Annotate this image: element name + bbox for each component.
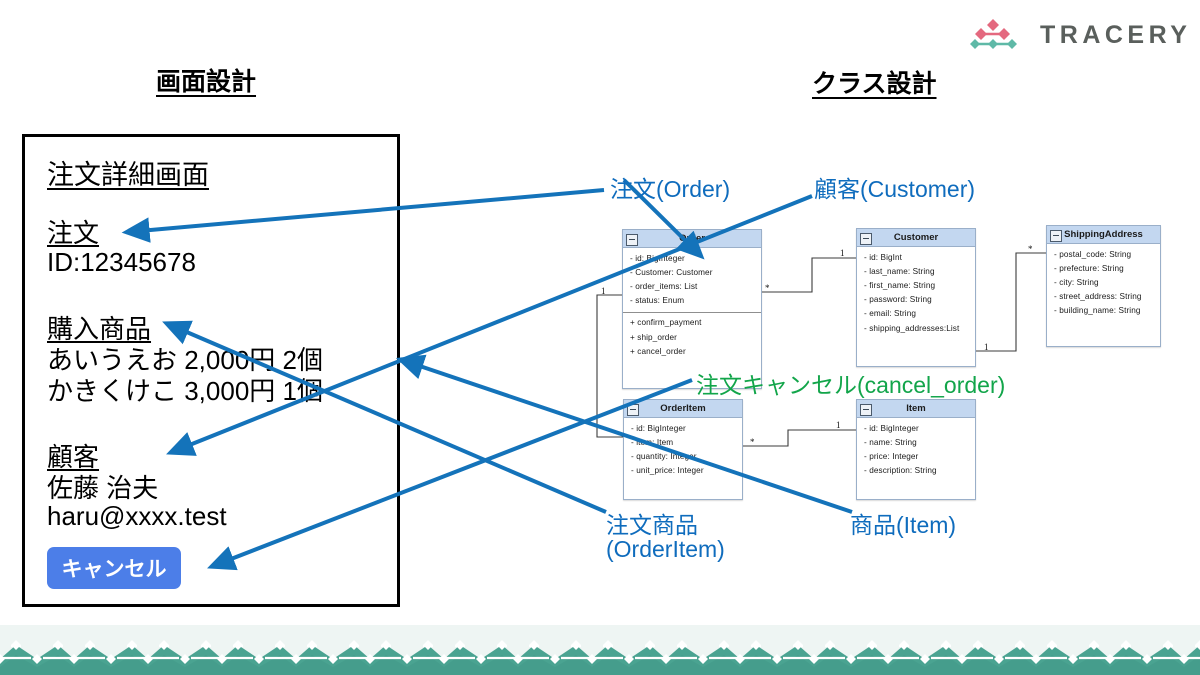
multiplicity-item-left: 1 xyxy=(836,420,841,430)
uml-class-name: Order xyxy=(679,233,705,244)
uml-attribute-row: - last_name: String xyxy=(857,264,975,278)
uml-operation-row: + confirm_payment xyxy=(623,316,761,330)
uml-attribute-row: - quantity: Integer xyxy=(624,449,742,463)
uml-attributes: - id: BigInteger - item: Item - quantity… xyxy=(624,418,742,482)
multiplicity-customer-bottom: 1 xyxy=(984,342,989,352)
multiplicity-orderitem-left: * xyxy=(610,428,615,438)
uml-attribute-row: - id: BigInteger xyxy=(857,421,975,435)
multiplicity-order-right: * xyxy=(765,283,770,293)
class-collapse-icon[interactable] xyxy=(626,234,638,246)
uml-class-orderitem[interactable]: OrderItem - id: BigInteger - item: Item … xyxy=(623,399,743,500)
uml-operations: + confirm_payment + ship_order + cancel_… xyxy=(623,312,761,363)
mockup-customer-name: 佐藤 治夫 xyxy=(47,468,158,505)
class-collapse-icon[interactable] xyxy=(860,233,872,245)
multiplicity-shipaddr-left: * xyxy=(1028,244,1033,254)
brand-name: TRACERY xyxy=(1040,21,1191,50)
uml-attribute-row: - prefecture: String xyxy=(1047,261,1160,275)
uml-class-header: Item xyxy=(857,400,975,418)
mockup-page-title: 注文詳細画面 xyxy=(47,153,209,192)
heading-class-design: クラス設計 xyxy=(812,64,937,100)
uml-attribute-row: - password: String xyxy=(857,293,975,307)
footer-decoration-band xyxy=(0,625,1200,675)
annotation-item: 商品(Item) xyxy=(850,506,956,540)
uml-attribute-row: - shipping_addresses:List xyxy=(857,321,975,335)
uml-attribute-row: - unit_price: Integer xyxy=(624,464,742,478)
uml-class-name: Customer xyxy=(894,232,938,243)
annotation-cancel-order: 注文キャンセル(cancel_order) xyxy=(696,366,1005,400)
uml-attribute-row: - id: BigInteger xyxy=(624,421,742,435)
uml-attribute-row: - postal_code: String xyxy=(1047,247,1160,261)
uml-attribute-row: - building_name: String xyxy=(1047,304,1160,318)
class-collapse-icon[interactable] xyxy=(1050,230,1062,242)
uml-attributes: - postal_code: String - prefecture: Stri… xyxy=(1047,244,1160,322)
uml-attribute-row: - id: BigInt xyxy=(857,250,975,264)
annotation-orderitem-line2: (OrderItem) xyxy=(606,536,725,563)
uml-class-header: Order xyxy=(623,230,761,248)
uml-class-name: OrderItem xyxy=(660,403,705,414)
uml-attribute-row: - name: String xyxy=(857,435,975,449)
uml-attribute-row: - Customer: Customer xyxy=(623,265,761,279)
uml-class-header: ShippingAddress xyxy=(1047,226,1160,244)
uml-attributes: - id: BigInteger - name: String - price:… xyxy=(857,418,975,482)
multiplicity-customer-left: 1 xyxy=(840,248,845,258)
diamond-network-pattern-icon xyxy=(0,625,1200,675)
uml-attribute-row: - description: String xyxy=(857,464,975,478)
uml-class-order[interactable]: Order - id: BigInteger - Customer: Custo… xyxy=(622,229,762,389)
annotation-customer: 顧客(Customer) xyxy=(814,170,975,204)
cancel-button[interactable]: キャンセル xyxy=(47,547,181,589)
mockup-customer-email: haru@xxxx.test xyxy=(47,501,227,532)
uml-operation-row: + ship_order xyxy=(623,330,761,344)
mockup-item-row: かきくけこ 3,000円 1個 xyxy=(47,371,323,408)
uml-attribute-row: - email: String xyxy=(857,307,975,321)
tracery-diamond-network-logo-icon xyxy=(968,18,1030,52)
uml-attribute-row: - price: Integer xyxy=(857,449,975,463)
uml-class-item[interactable]: Item - id: BigInteger - name: String - p… xyxy=(856,399,976,500)
uml-attribute-row: - city: String xyxy=(1047,275,1160,289)
uml-attribute-row: - id: BigInteger xyxy=(623,251,761,265)
annotation-order: 注文(Order) xyxy=(610,170,730,204)
slide-canvas: TRACERY 画面設計 クラス設計 注文詳細画面 注文 ID:12345678… xyxy=(0,0,1200,675)
multiplicity-order-left: 1 xyxy=(601,286,606,296)
uml-attribute-row: - first_name: String xyxy=(857,278,975,292)
uml-class-name: Item xyxy=(906,403,926,414)
multiplicity-orderitem-right: * xyxy=(750,437,755,447)
uml-attributes: - id: BigInteger - Customer: Customer - … xyxy=(623,248,761,312)
uml-class-shippingaddress[interactable]: ShippingAddress - postal_code: String - … xyxy=(1046,225,1161,347)
uml-class-header: OrderItem xyxy=(624,400,742,418)
uml-class-customer[interactable]: Customer - id: BigInt - last_name: Strin… xyxy=(856,228,976,367)
heading-screen-design: 画面設計 xyxy=(156,62,256,98)
mockup-order-section-label: 注文 xyxy=(47,213,99,250)
annotation-orderitem-line1: 注文商品 xyxy=(606,506,698,540)
uml-attribute-row: - street_address: String xyxy=(1047,290,1160,304)
uml-attribute-row: - status: Enum xyxy=(623,294,761,308)
class-collapse-icon[interactable] xyxy=(627,404,639,416)
brand-logo: TRACERY xyxy=(968,14,1178,56)
mockup-order-id: ID:12345678 xyxy=(47,247,196,278)
uml-class-name: ShippingAddress xyxy=(1064,229,1143,240)
screen-mockup-frame: 注文詳細画面 注文 ID:12345678 購入商品 あいうえお 2,000円 … xyxy=(22,134,400,607)
uml-class-header: Customer xyxy=(857,229,975,247)
uml-attribute-row: - order_items: List xyxy=(623,279,761,293)
uml-operation-row: + cancel_order xyxy=(623,344,761,358)
class-collapse-icon[interactable] xyxy=(860,404,872,416)
uml-attribute-row: - item: Item xyxy=(624,435,742,449)
uml-attributes: - id: BigInt - last_name: String - first… xyxy=(857,247,975,339)
